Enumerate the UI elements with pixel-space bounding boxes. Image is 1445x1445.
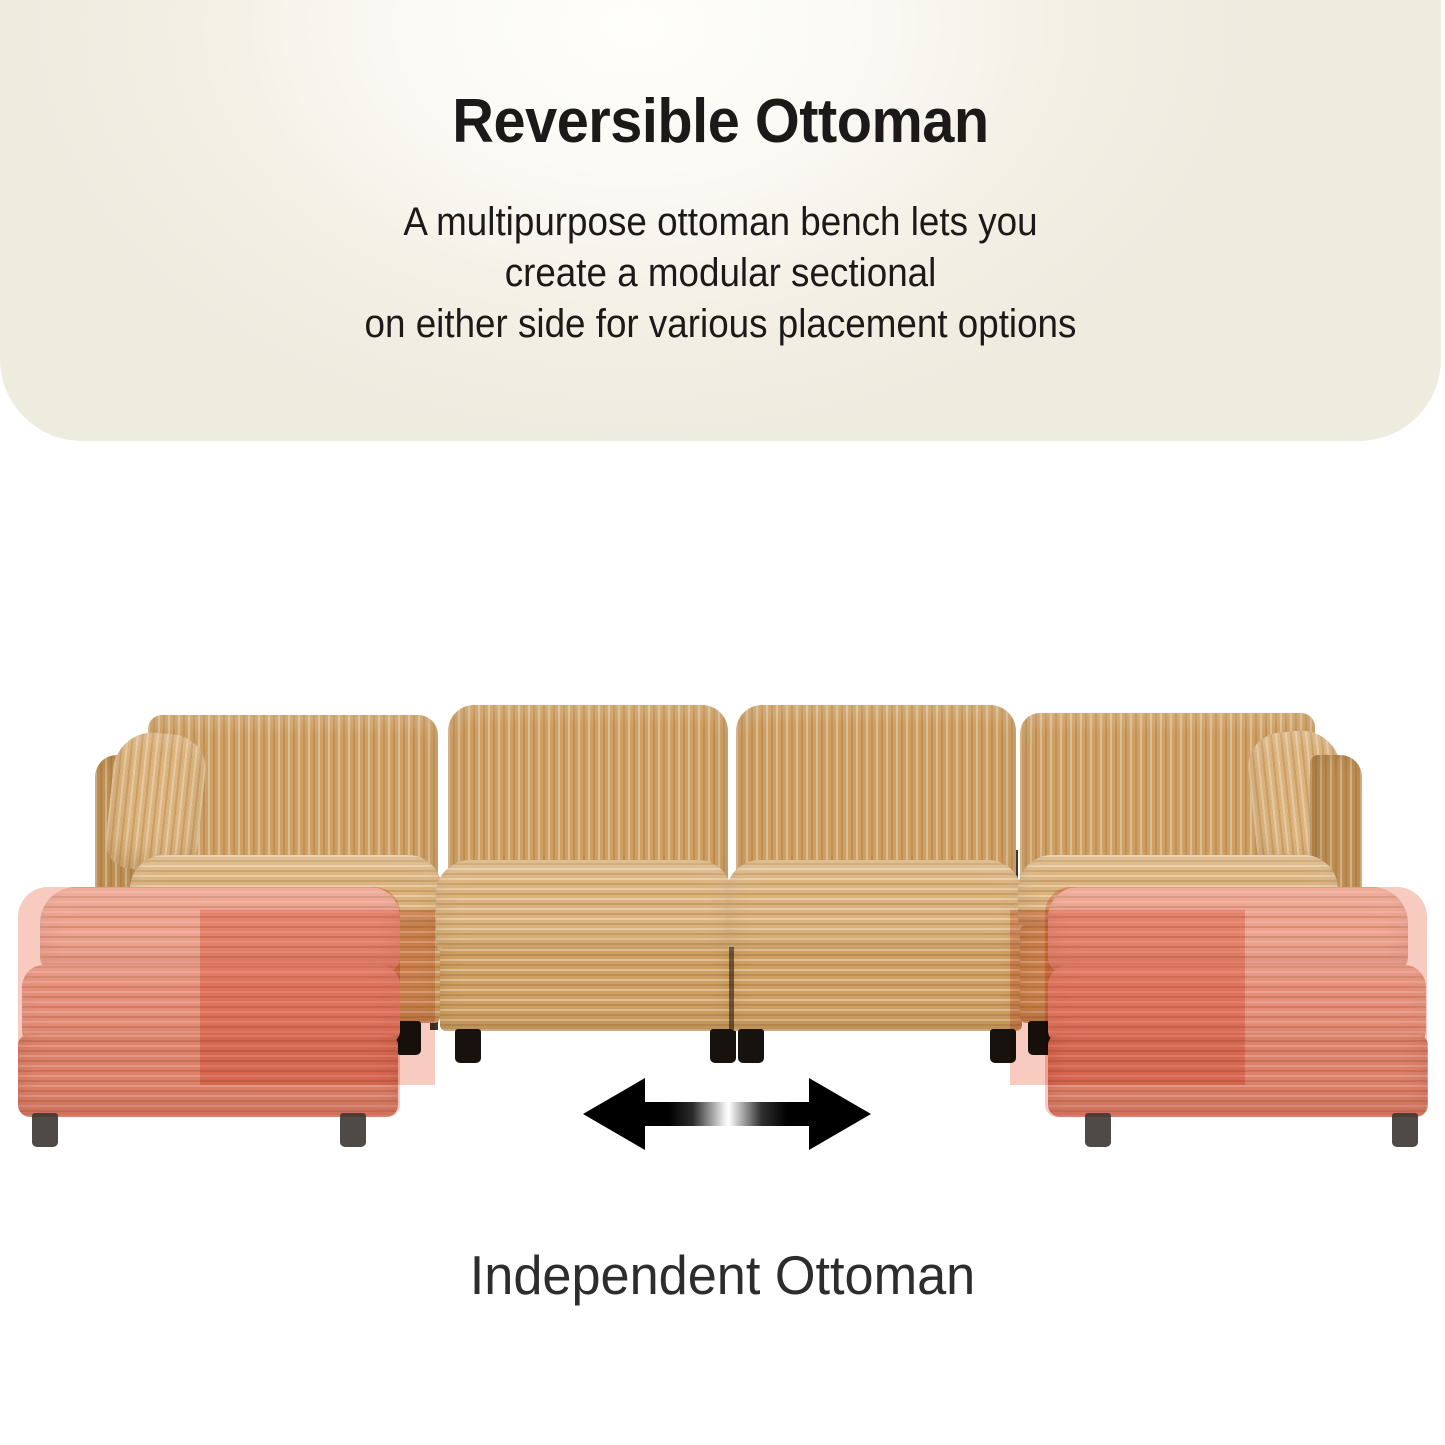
arrow-shaft xyxy=(641,1102,813,1126)
ottoman-leg xyxy=(32,1113,58,1147)
center-seat-cushion-1 xyxy=(436,860,732,960)
header-panel: Reversible Ottoman A multipurpose ottoma… xyxy=(0,0,1441,441)
ottoman-leg xyxy=(1085,1113,1111,1147)
ottoman-leg xyxy=(340,1113,366,1147)
subtitle-line-1: A multipurpose ottoman bench lets you xyxy=(58,197,1384,248)
left-bolster-pillow xyxy=(103,729,209,876)
right-ottoman-highlight-overlay-extend xyxy=(1010,910,1245,1085)
center-base-1 xyxy=(440,947,732,1031)
subtitle-line-3: on either side for various placement opt… xyxy=(58,299,1384,350)
center-seat-cushion-2 xyxy=(726,860,1022,960)
arrow-right-head-icon xyxy=(809,1078,871,1150)
center-base-2 xyxy=(730,947,1022,1031)
subtitle-line-2: create a modular sectional xyxy=(58,248,1384,299)
left-ottoman-highlight-overlay-extend xyxy=(200,910,435,1085)
page-title: Reversible Ottoman xyxy=(50,86,1390,157)
subtitle-block: A multipurpose ottoman bench lets you cr… xyxy=(0,197,1441,350)
sofa-leg xyxy=(738,1029,764,1063)
product-caption: Independent Ottoman xyxy=(36,1243,1409,1307)
arrow-left-head-icon xyxy=(583,1078,645,1150)
center-seam xyxy=(729,947,734,1033)
reversible-direction-arrow xyxy=(583,1078,871,1150)
sofa-leg xyxy=(710,1029,736,1063)
sofa-leg xyxy=(455,1029,481,1063)
ottoman-leg xyxy=(1392,1113,1418,1147)
